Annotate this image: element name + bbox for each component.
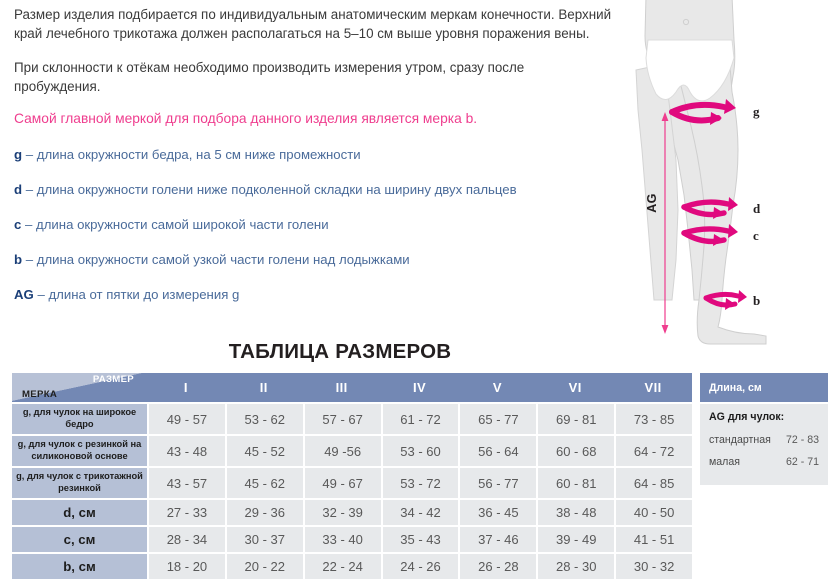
column-header-1: I bbox=[147, 373, 225, 402]
table-cell: 34 - 42 bbox=[383, 500, 459, 525]
intro-paragraph-1: Размер изделия подбирается по индивидуал… bbox=[14, 6, 614, 43]
legend-item-ag: AG – длина от пятки до измерения g bbox=[14, 286, 614, 304]
column-header-4: IV bbox=[381, 373, 459, 402]
table-row: b, см 18 - 20 20 - 22 22 - 24 24 - 26 26… bbox=[12, 554, 692, 579]
table-cell: 40 - 50 bbox=[616, 500, 692, 525]
table-row: g, для чулок на широкое бедро 49 - 57 53… bbox=[12, 404, 692, 434]
table-cell: 38 - 48 bbox=[538, 500, 614, 525]
table-cell: 64 - 72 bbox=[616, 436, 692, 466]
table-cell: 24 - 26 bbox=[383, 554, 459, 579]
length-panel-body: AG для чулок: стандартная 72 - 83 малая … bbox=[700, 404, 828, 485]
legend-dash-b: – bbox=[26, 252, 33, 267]
table-cell: 43 - 57 bbox=[149, 468, 225, 498]
length-option-name: стандартная bbox=[709, 434, 771, 446]
legend-item-b: b – длина окружности самой узкой части г… bbox=[14, 251, 614, 269]
anatomy-figure: g d c b AG bbox=[614, 0, 836, 350]
table-title: ТАБЛИЦА РАЗМЕРОВ bbox=[0, 340, 680, 364]
legend-text-d: длина окружности голени ниже подколенной… bbox=[37, 182, 517, 197]
legend-text-c: длина окружности самой широкой части гол… bbox=[36, 217, 329, 232]
figure-label-d: d bbox=[753, 201, 760, 217]
table-row: g, для чулок с трикотажной резинкой 43 -… bbox=[12, 468, 692, 498]
table-cell: 18 - 20 bbox=[149, 554, 225, 579]
table-cell: 41 - 51 bbox=[616, 527, 692, 552]
legend-dash-d: – bbox=[26, 182, 33, 197]
legend-key-d: d bbox=[14, 182, 22, 197]
table-cell: 35 - 43 bbox=[383, 527, 459, 552]
row-label: g, для чулок с резинкой на силиконовой о… bbox=[12, 436, 147, 466]
table-cell: 45 - 62 bbox=[227, 468, 303, 498]
table-cell: 33 - 40 bbox=[305, 527, 381, 552]
figure-label-c: c bbox=[753, 228, 759, 244]
table-cell: 43 - 48 bbox=[149, 436, 225, 466]
length-panel-row: стандартная 72 - 83 bbox=[709, 434, 819, 446]
table-header-row: МЕРКА РАЗМЕР I II III IV V VI VII bbox=[12, 373, 692, 402]
legend-text-g: длина окружности бедра, на 5 см ниже про… bbox=[37, 147, 361, 162]
row-label: g, для чулок на широкое бедро bbox=[12, 404, 147, 434]
table-cell: 53 - 62 bbox=[227, 404, 303, 434]
table-cell: 27 - 33 bbox=[149, 500, 225, 525]
table-cell: 53 - 60 bbox=[383, 436, 459, 466]
table-cell: 28 - 34 bbox=[149, 527, 225, 552]
body-silhouette-icon bbox=[614, 0, 836, 350]
intro-paragraph-2: При склонности к отёкам необходимо произ… bbox=[14, 59, 614, 96]
figure-label-g: g bbox=[753, 104, 760, 120]
table-cell: 29 - 36 bbox=[227, 500, 303, 525]
table-cell: 56 - 64 bbox=[460, 436, 536, 466]
table-cell: 69 - 81 bbox=[538, 404, 614, 434]
legend-key-g: g bbox=[14, 147, 22, 162]
table-cell: 53 - 72 bbox=[383, 468, 459, 498]
table-cell: 32 - 39 bbox=[305, 500, 381, 525]
table-cell: 60 - 81 bbox=[538, 468, 614, 498]
table-corner-cell: МЕРКА РАЗМЕР bbox=[12, 373, 147, 402]
ag-arrow-bottom bbox=[662, 325, 669, 334]
legend-key-c: c bbox=[14, 217, 21, 232]
table-cell: 20 - 22 bbox=[227, 554, 303, 579]
table-cell: 61 - 72 bbox=[383, 404, 459, 434]
legend-dash-g: – bbox=[26, 147, 33, 162]
legend-key-ag: AG bbox=[14, 287, 34, 302]
column-header-3: III bbox=[303, 373, 381, 402]
table-row: g, для чулок с резинкой на силиконовой о… bbox=[12, 436, 692, 466]
legend-item-c: c – длина окружности самой широкой части… bbox=[14, 216, 614, 234]
table-cell: 45 - 52 bbox=[227, 436, 303, 466]
length-panel-title: AG для чулок: bbox=[709, 411, 819, 423]
key-measure-highlight: Самой главной меркой для подбора данного… bbox=[14, 110, 614, 128]
table-cell: 60 - 68 bbox=[538, 436, 614, 466]
legend-dash-ag: – bbox=[37, 287, 44, 302]
row-label: d, см bbox=[12, 500, 147, 525]
column-header-5: V bbox=[458, 373, 536, 402]
table-cell: 22 - 24 bbox=[305, 554, 381, 579]
column-header-6: VI bbox=[536, 373, 614, 402]
length-option-name: малая bbox=[709, 456, 740, 468]
column-header-2: II bbox=[225, 373, 303, 402]
legend-dash-c: – bbox=[25, 217, 32, 232]
table-cell: 30 - 37 bbox=[227, 527, 303, 552]
row-label: c, см bbox=[12, 527, 147, 552]
table-cell: 49 - 57 bbox=[149, 404, 225, 434]
table-cell: 30 - 32 bbox=[616, 554, 692, 579]
table-cell: 28 - 30 bbox=[538, 554, 614, 579]
table-cell: 64 - 85 bbox=[616, 468, 692, 498]
corner-size-label: РАЗМЕР bbox=[93, 374, 134, 385]
table-cell: 39 - 49 bbox=[538, 527, 614, 552]
table-cell: 37 - 46 bbox=[460, 527, 536, 552]
legend-item-d: d – длина окружности голени ниже подколе… bbox=[14, 181, 614, 199]
size-table: МЕРКА РАЗМЕР I II III IV V VI VII g, для… bbox=[12, 373, 692, 579]
table-cell: 49 - 67 bbox=[305, 468, 381, 498]
row-label: b, см bbox=[12, 554, 147, 579]
table-cell: 26 - 28 bbox=[460, 554, 536, 579]
legend-item-g: g – длина окружности бедра, на 5 см ниже… bbox=[14, 146, 614, 164]
instructions-column: Размер изделия подбирается по индивидуал… bbox=[14, 6, 614, 321]
figure-label-ag: AG bbox=[645, 193, 659, 213]
legend-text-b: длина окружности самой узкой части голен… bbox=[37, 252, 410, 267]
legend-text-ag: длина от пятки до измерения g bbox=[48, 287, 239, 302]
table-row: c, см 28 - 34 30 - 37 33 - 40 35 - 43 37… bbox=[12, 527, 692, 552]
length-option-value: 72 - 83 bbox=[786, 434, 819, 446]
table-cell: 49 -56 bbox=[305, 436, 381, 466]
figure-label-b: b bbox=[753, 293, 760, 309]
legend-key-b: b bbox=[14, 252, 22, 267]
length-option-value: 62 - 71 bbox=[786, 456, 819, 468]
table-row: d, см 27 - 33 29 - 36 32 - 39 34 - 42 36… bbox=[12, 500, 692, 525]
table-cell: 57 - 67 bbox=[305, 404, 381, 434]
length-panel-header: Длина, см bbox=[700, 373, 828, 402]
table-cell: 65 - 77 bbox=[460, 404, 536, 434]
length-panel: Длина, см AG для чулок: стандартная 72 -… bbox=[700, 373, 828, 485]
corner-measure-label: МЕРКА bbox=[22, 389, 57, 400]
length-panel-row: малая 62 - 71 bbox=[709, 456, 819, 468]
table-cell: 73 - 85 bbox=[616, 404, 692, 434]
column-header-7: VII bbox=[614, 373, 692, 402]
row-label: g, для чулок с трикотажной резинкой bbox=[12, 468, 147, 498]
table-cell: 36 - 45 bbox=[460, 500, 536, 525]
table-cell: 56 - 77 bbox=[460, 468, 536, 498]
